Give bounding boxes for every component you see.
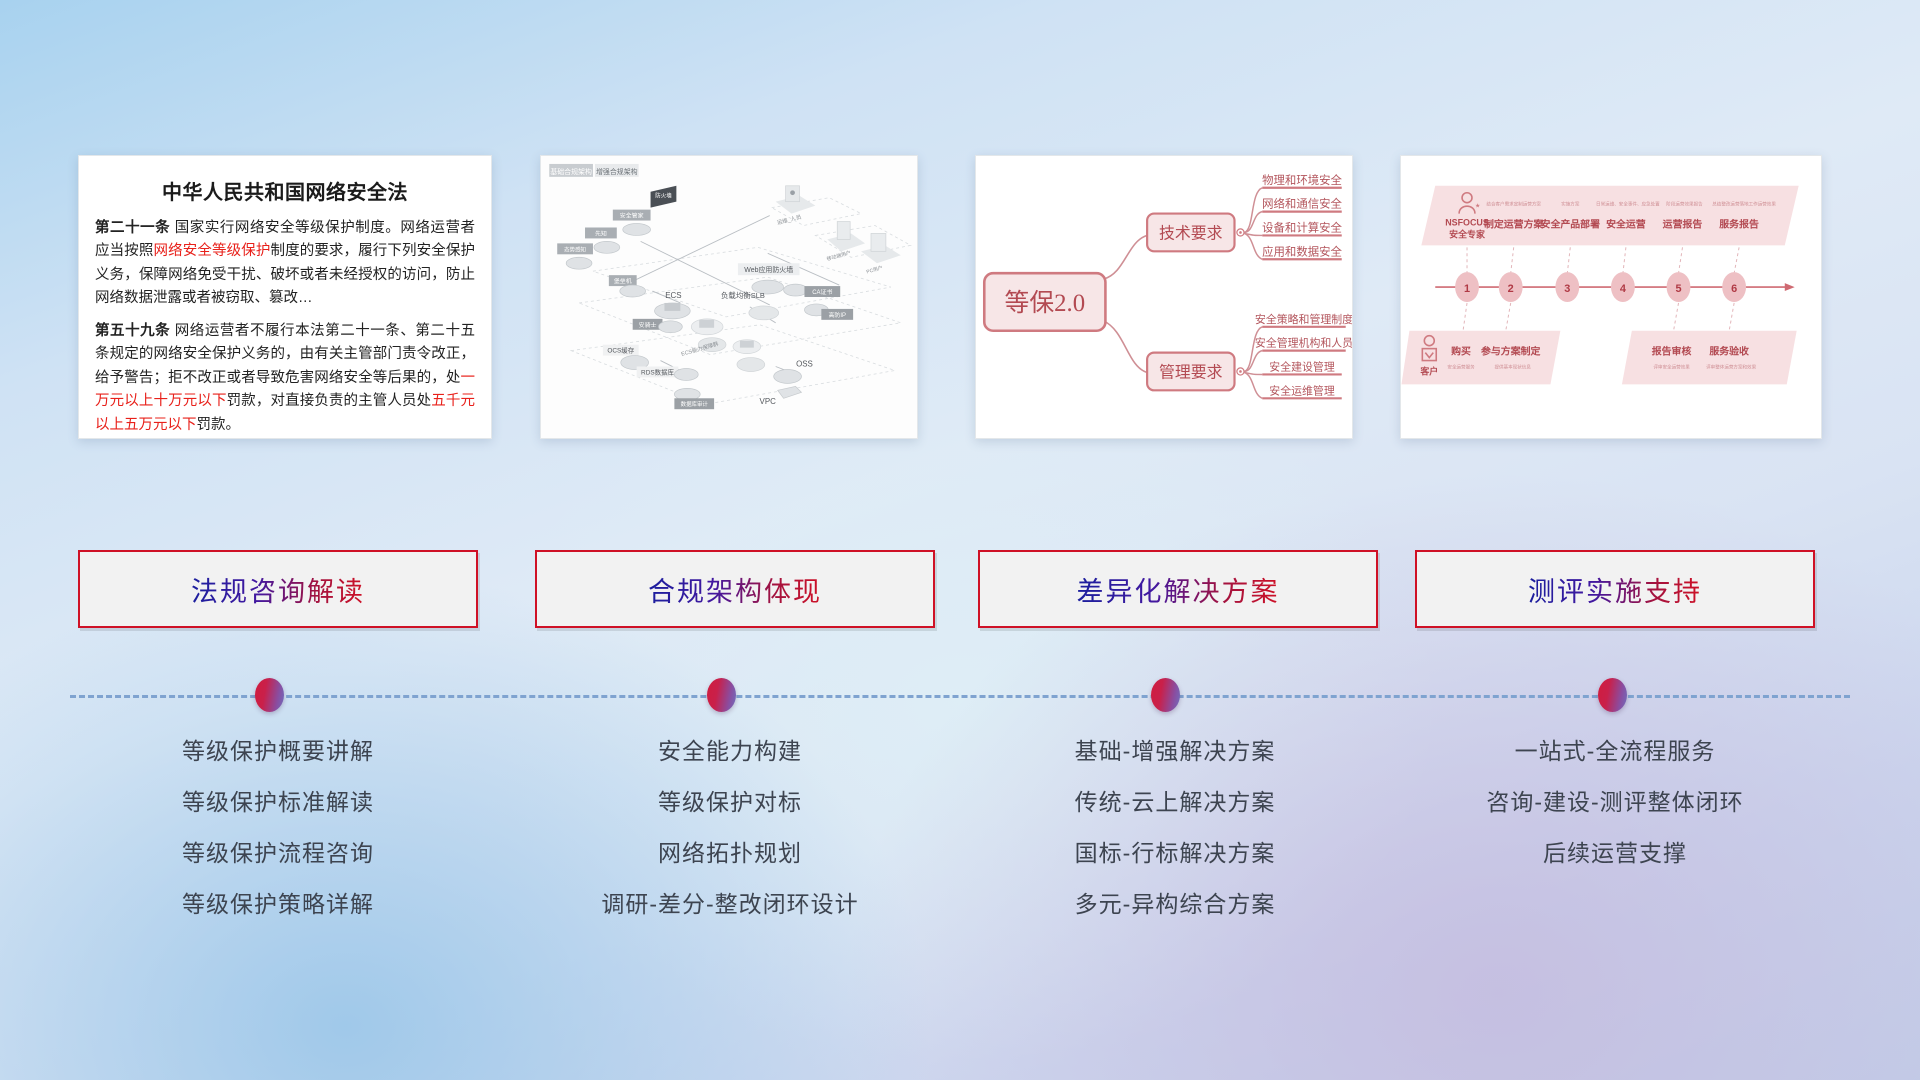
pill-assessment-support[interactable]: 测评实施支持 xyxy=(1415,550,1815,628)
list-item: 国标-行标解决方案 xyxy=(960,842,1390,865)
arch-tab-basic: 基础合规架构 xyxy=(550,167,592,176)
arch-tab-enhanced: 增强合规架构 xyxy=(596,167,638,176)
pill-compliance-architecture[interactable]: 合规架构体现 xyxy=(535,550,935,628)
nsfocus-top-sub-0: 结合客户需求定制运营方案 xyxy=(1486,201,1541,208)
pill-label-1: 合规架构体现 xyxy=(648,570,822,609)
nsfocus-top-title-4: 服务报告 xyxy=(1719,217,1759,230)
column-regulation-consulting: 等级保护概要讲解 等级保护标准解读 等级保护流程咨询 等级保护策略详解 xyxy=(63,740,493,944)
nsfocus-bottom-sub-1: 提供基本现状信息 xyxy=(1495,363,1532,370)
nsfocus-top-title-3: 运营报告 xyxy=(1663,217,1703,230)
timeline-dot-1 xyxy=(707,678,736,712)
law-article-21-highlight: 网络安全等级保护 xyxy=(153,243,270,259)
law-article-21-heading: 第二十一条 xyxy=(95,220,170,236)
nsfocus-top-title-1: 安全产品部署 xyxy=(1541,217,1601,230)
list-item: 等级保护概要讲解 xyxy=(63,740,493,763)
timeline-dot-3 xyxy=(1598,678,1627,712)
list-item: 等级保护流程咨询 xyxy=(63,842,493,865)
list-item: 调研-差分-整改闭环设计 xyxy=(515,893,945,916)
nsfocus-step-num-1: 2 xyxy=(1508,283,1514,295)
timeline-dashed-line xyxy=(70,695,1850,698)
arch-node-ca: CA证书 xyxy=(812,288,832,296)
mindmap-mgmt-item-3: 安全运维管理 xyxy=(1269,383,1335,397)
nsfocus-bottom-title-1: 参与方案制定 xyxy=(1481,345,1541,358)
card-cybersecurity-law: 中华人民共和国网络安全法 第二十一条 国家实行网络安全等级保护制度。网络运营者应… xyxy=(78,155,492,439)
list-item: 等级保护对标 xyxy=(515,791,945,814)
architecture-diagram: 基础合规架构 增强合规架构 xyxy=(541,156,917,438)
timeline-dot-0 xyxy=(255,678,284,712)
column-assessment-support: 一站式-全流程服务 咨询-建设-测评整体闭环 后续运营支撑 xyxy=(1400,740,1830,893)
mindmap-mgmt-item-2: 安全建设管理 xyxy=(1269,359,1335,373)
pill-label-3: 测评实施支持 xyxy=(1528,570,1702,609)
nsfocus-expert-star-icon: ★ xyxy=(1475,203,1480,210)
law-article-21: 第二十一条 国家实行网络安全等级保护制度。网络运营者应当按照网络安全等级保护制度… xyxy=(95,217,475,311)
mindmap-branch-mgmt: 管理要求 xyxy=(1159,363,1223,381)
arch-node-security-steward: 安全管家 xyxy=(620,212,644,220)
mindmap-tech-item-0: 物理和环境安全 xyxy=(1262,173,1342,187)
nsfocus-top-sub-4: 总结整改运营落地工作运营效果 xyxy=(1712,201,1776,208)
nsfocus-expert-role-line1: NSFOCUS xyxy=(1445,218,1489,228)
list-item: 等级保护标准解读 xyxy=(63,791,493,814)
pill-label-2: 差异化解决方案 xyxy=(1077,570,1280,609)
arch-node-anqishi: 安骑士 xyxy=(639,321,657,329)
nsfocus-bottom-sub-0: 安全运营服务 xyxy=(1447,363,1475,370)
nsfocus-top-sub-3: 阶段运营效果报告 xyxy=(1666,201,1703,208)
law-article-59-heading: 第五十九条 xyxy=(95,323,170,339)
card-nsfocus-service-timeline: ★ NSFOCUS 安全专家 客户 制定运营方案 安全产品部署 安全运营 运营报… xyxy=(1400,155,1822,439)
nsfocus-bottom-title-0: 购买 xyxy=(1451,345,1471,358)
nsfocus-timeline-diagram: ★ NSFOCUS 安全专家 客户 制定运营方案 安全产品部署 安全运营 运营报… xyxy=(1401,156,1821,438)
pill-differentiated-solution[interactable]: 差异化解决方案 xyxy=(978,550,1378,628)
arch-node-xianzhi: 先知 xyxy=(595,229,607,237)
nsfocus-step-num-5: 6 xyxy=(1731,283,1737,295)
nsfocus-step-num-2: 3 xyxy=(1564,283,1570,295)
arch-node-waf: Web应用防火墙 xyxy=(744,265,793,274)
nsfocus-top-sub-1: 实施方案 xyxy=(1561,201,1580,208)
arch-node-slb: 负载均衡SLB xyxy=(721,290,765,300)
nsfocus-top-sub-2: 日常运维、安全事件、应急处置 xyxy=(1596,201,1660,208)
nsfocus-step-num-0: 1 xyxy=(1464,283,1470,295)
law-title: 中华人民共和国网络安全法 xyxy=(95,176,475,205)
mindmap-tech-item-3: 应用和数据安全 xyxy=(1262,244,1342,258)
list-item: 基础-增强解决方案 xyxy=(960,740,1390,763)
list-item: 安全能力构建 xyxy=(515,740,945,763)
pill-label-0: 法规咨询解读 xyxy=(191,570,365,609)
nsfocus-step-num-3: 4 xyxy=(1620,283,1626,295)
nsfocus-step-num-4: 5 xyxy=(1675,283,1681,295)
arch-node-situation-awareness: 态势感知 xyxy=(564,245,586,253)
nsfocus-bottom-title-3: 服务验收 xyxy=(1709,345,1749,358)
card-mindmap-dengbao: 等保2.0 技术要求 物理和环境安全 网络和通信安全 xyxy=(975,155,1353,439)
mindmap-root-label: 等保2.0 xyxy=(1005,289,1086,317)
list-item: 网络拓扑规划 xyxy=(515,842,945,865)
arch-node-ocs: OCS缓存 xyxy=(607,346,634,355)
list-item: 一站式-全流程服务 xyxy=(1400,740,1830,763)
nsfocus-customer-role: 客户 xyxy=(1419,365,1438,376)
slide-canvas: 中华人民共和国网络安全法 第二十一条 国家实行网络安全等级保护制度。网络运营者应… xyxy=(0,0,1920,1080)
card-compliance-architecture: 基础合规架构 增强合规架构 xyxy=(540,155,918,439)
mindmap-tech-item-1: 网络和通信安全 xyxy=(1262,197,1342,211)
mindmap-diagram: 等保2.0 技术要求 物理和环境安全 网络和通信安全 xyxy=(976,156,1352,438)
arch-node-anti-ddos: 高防IP xyxy=(828,311,846,319)
mindmap-mgmt-item-0: 安全策略和管理制度 xyxy=(1255,312,1352,326)
nsfocus-top-title-2: 安全运营 xyxy=(1606,217,1646,230)
list-item: 咨询-建设-测评整体闭环 xyxy=(1400,791,1830,814)
timeline-dot-2 xyxy=(1151,678,1180,712)
list-item: 等级保护策略详解 xyxy=(63,893,493,916)
list-item: 传统-云上解决方案 xyxy=(960,791,1390,814)
list-item: 后续运营支撑 xyxy=(1400,842,1830,865)
arch-node-bastion: 堡垒机 xyxy=(614,277,632,285)
nsfocus-bottom-sub-3: 评审整体运营方案和效果 xyxy=(1706,363,1756,370)
arch-node-rds: RDS数据库 xyxy=(641,367,674,376)
nsfocus-bottom-sub-2: 评审安全运营效果 xyxy=(1653,363,1690,370)
mindmap-tech-item-2: 设备和计算安全 xyxy=(1262,220,1342,234)
mindmap-mgmt-item-1: 安全管理机构和人员 xyxy=(1255,336,1352,350)
arch-node-vpc: VPC xyxy=(760,397,777,406)
law-article-59-text-c: 罚款。 xyxy=(197,417,241,433)
arch-node-db-audit: 数据库审计 xyxy=(681,400,709,408)
law-article-59: 第五十九条 网络运营者不履行本法第二十一条、第二十五条规定的网络安全保护义务的，… xyxy=(95,320,475,437)
nsfocus-expert-role-line2: 安全专家 xyxy=(1449,228,1485,239)
mindmap-branch-tech: 技术要求 xyxy=(1159,224,1223,242)
law-article-59-text-b: 罚款，对直接负责的主管人员处 xyxy=(227,393,432,409)
column-compliance-architecture: 安全能力构建 等级保护对标 网络拓扑规划 调研-差分-整改闭环设计 xyxy=(515,740,945,944)
nsfocus-bottom-title-2: 报告审核 xyxy=(1652,345,1692,358)
pill-regulation-consulting[interactable]: 法规咨询解读 xyxy=(78,550,478,628)
arch-node-ecs: ECS xyxy=(665,291,681,300)
column-differentiated-solution: 基础-增强解决方案 传统-云上解决方案 国标-行标解决方案 多元-异构综合方案 xyxy=(960,740,1390,944)
arch-node-oss: OSS xyxy=(796,360,813,369)
nsfocus-top-title-0: 制定运营方案 xyxy=(1484,217,1545,230)
arch-node-firewall: 防火墙 xyxy=(655,192,672,200)
list-item: 多元-异构综合方案 xyxy=(960,893,1390,916)
